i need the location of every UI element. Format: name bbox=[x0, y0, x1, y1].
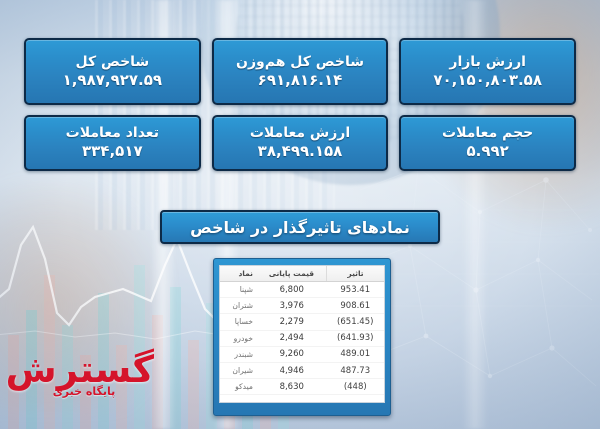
stat-card-trade-count[interactable]: تعداد معاملات ۳۳۴,۵۱۷ bbox=[24, 115, 201, 171]
cell-symbol: خساپا bbox=[220, 314, 257, 330]
stat-label-market-value: ارزش بازار bbox=[449, 54, 526, 70]
cell-impact: (448) bbox=[327, 379, 384, 395]
stat-label-trade-value: ارزش معاملات bbox=[250, 125, 350, 141]
impact-table-header-row: تاثیر قیمت پایانی نماد bbox=[220, 266, 384, 282]
cell-symbol: شتران bbox=[220, 298, 257, 314]
section-banner: نمادهای تاثیرگذار در شاخص bbox=[160, 210, 440, 244]
impact-table-head: تاثیر قیمت پایانی نماد bbox=[220, 266, 384, 282]
stat-card-equal-weight-index[interactable]: شاخص کل هم‌وزن ۶۹۱,۸۱۶.۱۴ bbox=[212, 38, 389, 105]
cell-impact: (641.93) bbox=[327, 330, 384, 346]
stat-card-trade-value[interactable]: ارزش معاملات ۳۸,۴۹۹.۱۵۸ bbox=[212, 115, 389, 171]
cell-closing-price: 3,976 bbox=[257, 298, 327, 314]
stat-card-total-index[interactable]: شاخص کل ۱,۹۸۷,۹۲۷.۵۹ bbox=[24, 38, 201, 105]
cell-closing-price: 9,260 bbox=[257, 346, 327, 362]
column-header-symbol: نماد bbox=[220, 266, 257, 282]
table-row[interactable]: (641.93)2,494خودرو bbox=[220, 330, 384, 346]
stat-value-trade-count: ۳۳۴,۵۱۷ bbox=[82, 143, 143, 160]
cell-closing-price: 2,279 bbox=[257, 314, 327, 330]
cell-impact: 953.41 bbox=[327, 282, 384, 298]
stat-label-trade-volume: حجم معاملات bbox=[442, 125, 533, 141]
stat-card-market-value[interactable]: ارزش بازار ۷۰,۱۵۰,۸۰۳.۵۸ bbox=[399, 38, 576, 105]
table-row[interactable]: 908.613,976شتران bbox=[220, 298, 384, 314]
site-logo[interactable]: گسترش پایگاه خبری bbox=[14, 352, 154, 398]
stat-value-trade-value: ۳۸,۴۹۹.۱۵۸ bbox=[258, 143, 343, 160]
cell-impact: 487.73 bbox=[327, 362, 384, 378]
stat-value-market-value: ۷۰,۱۵۰,۸۰۳.۵۸ bbox=[433, 72, 542, 89]
stat-card-grid: ارزش بازار ۷۰,۱۵۰,۸۰۳.۵۸ شاخص کل هم‌وزن … bbox=[24, 38, 576, 171]
cell-closing-price: 6,800 bbox=[257, 282, 327, 298]
stat-label-total-index: شاخص کل bbox=[75, 54, 149, 70]
section-banner-title: نمادهای تاثیرگذار در شاخص bbox=[190, 218, 410, 237]
stat-value-total-index: ۱,۹۸۷,۹۲۷.۵۹ bbox=[63, 72, 163, 89]
cell-closing-price: 4,946 bbox=[257, 362, 327, 378]
table-row[interactable]: (448)8,630میدکو bbox=[220, 379, 384, 395]
cell-impact: 908.61 bbox=[327, 298, 384, 314]
cell-closing-price: 2,494 bbox=[257, 330, 327, 346]
impact-table-frame: تاثیر قیمت پایانی نماد 953.416,800شپنا90… bbox=[219, 265, 385, 403]
cell-symbol: خودرو bbox=[220, 330, 257, 346]
stat-label-trade-count: تعداد معاملات bbox=[66, 125, 159, 141]
table-row[interactable]: (651.45)2,279خساپا bbox=[220, 314, 384, 330]
stat-card-row-1: ارزش بازار ۷۰,۱۵۰,۸۰۳.۵۸ شاخص کل هم‌وزن … bbox=[24, 38, 576, 105]
cell-symbol: شبندر bbox=[220, 346, 257, 362]
impact-table: تاثیر قیمت پایانی نماد 953.416,800شپنا90… bbox=[220, 266, 384, 395]
cell-symbol: میدکو bbox=[220, 379, 257, 395]
stat-card-row-2: حجم معاملات ۵.۹۹۲ ارزش معاملات ۳۸,۴۹۹.۱۵… bbox=[24, 115, 576, 171]
stat-label-equal-weight-index: شاخص کل هم‌وزن bbox=[236, 54, 364, 70]
table-row[interactable]: 487.734,946شیران bbox=[220, 362, 384, 378]
logo-wordmark: گسترش bbox=[14, 352, 154, 387]
stat-value-trade-volume: ۵.۹۹۲ bbox=[467, 143, 509, 160]
impact-table-panel: تاثیر قیمت پایانی نماد 953.416,800شپنا90… bbox=[213, 258, 391, 416]
column-header-price: قیمت پایانی bbox=[257, 266, 327, 282]
column-header-impact: تاثیر bbox=[327, 266, 384, 282]
cell-impact: 489.01 bbox=[327, 346, 384, 362]
cell-impact: (651.45) bbox=[327, 314, 384, 330]
table-row[interactable]: 489.019,260شبندر bbox=[220, 346, 384, 362]
cell-symbol: شپنا bbox=[220, 282, 257, 298]
infographic-canvas: ارزش بازار ۷۰,۱۵۰,۸۰۳.۵۸ شاخص کل هم‌وزن … bbox=[0, 0, 600, 429]
stat-value-equal-weight-index: ۶۹۱,۸۱۶.۱۴ bbox=[258, 72, 343, 89]
cell-symbol: شیران bbox=[220, 362, 257, 378]
table-row[interactable]: 953.416,800شپنا bbox=[220, 282, 384, 298]
cell-closing-price: 8,630 bbox=[257, 379, 327, 395]
stat-card-trade-volume[interactable]: حجم معاملات ۵.۹۹۲ bbox=[399, 115, 576, 171]
impact-table-body: 953.416,800شپنا908.613,976شتران(651.45)2… bbox=[220, 282, 384, 395]
